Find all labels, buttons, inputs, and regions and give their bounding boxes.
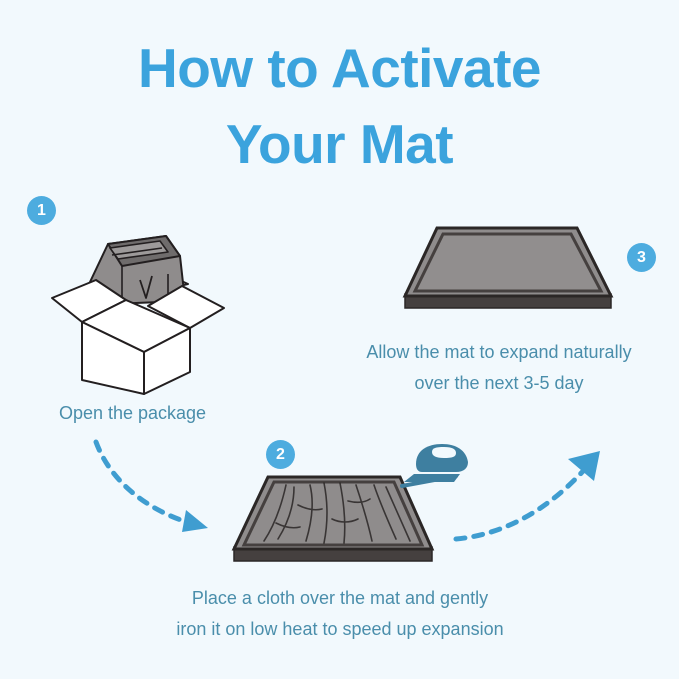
- step-2-caption-line-1: Place a cloth over the mat and gently: [96, 583, 584, 614]
- page-title: How to Activate Your Mat: [0, 30, 679, 182]
- title-line-1: How to Activate: [0, 30, 679, 106]
- dashed-curved-arrow-down-right-icon: [88, 432, 233, 542]
- cardboard-box-icon: [48, 222, 228, 397]
- title-line-2: Your Mat: [0, 106, 679, 182]
- step-1-caption-line-1: Open the package: [0, 398, 265, 429]
- step-3-caption: Allow the mat to expand naturally over t…: [320, 337, 678, 399]
- step-3-badge: 3: [627, 243, 656, 272]
- dashed-curved-arrow-up-right-icon: [452, 443, 612, 548]
- step-1-caption: Open the package: [0, 398, 265, 429]
- step-3-caption-line-1: Allow the mat to expand naturally: [320, 337, 678, 368]
- step-1-badge: 1: [27, 196, 56, 225]
- step-3-caption-line-2: over the next 3-5 day: [320, 368, 678, 399]
- step-2-caption-line-2: iron it on low heat to speed up expansio…: [96, 614, 584, 645]
- infographic-root: How to Activate Your Mat 1: [0, 0, 679, 679]
- step-2-caption: Place a cloth over the mat and gently ir…: [96, 583, 584, 645]
- flat-mat-icon: [395, 218, 620, 318]
